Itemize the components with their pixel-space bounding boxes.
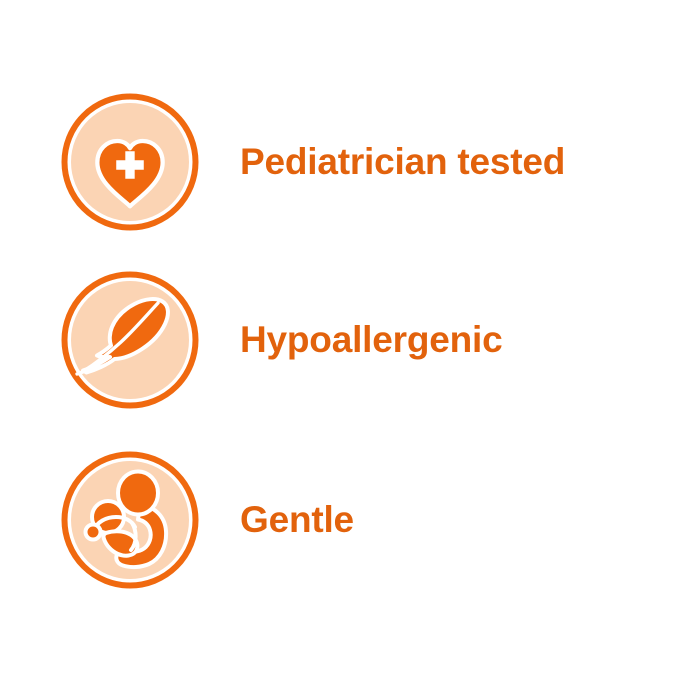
mother-holding-baby-icon (61, 451, 199, 589)
badge-mother-holding-baby (61, 451, 199, 589)
heart-with-cross-icon (61, 93, 199, 231)
feature-row: Pediatrician tested (0, 87, 679, 237)
feature-label-gentle: Gentle (240, 445, 354, 595)
feature-label-hypoallergenic: Hypoallergenic (240, 265, 502, 415)
badge-heart-with-cross (61, 93, 199, 231)
feature-row: Gentle (0, 445, 679, 595)
feature-label-pediatrician-tested: Pediatrician tested (240, 87, 565, 237)
feature-row: Hypoallergenic (0, 265, 679, 415)
feather-icon (61, 271, 199, 409)
badge-feather (61, 271, 199, 409)
feature-badges-panel: Pediatrician tested Hypoallergenic (0, 0, 679, 679)
